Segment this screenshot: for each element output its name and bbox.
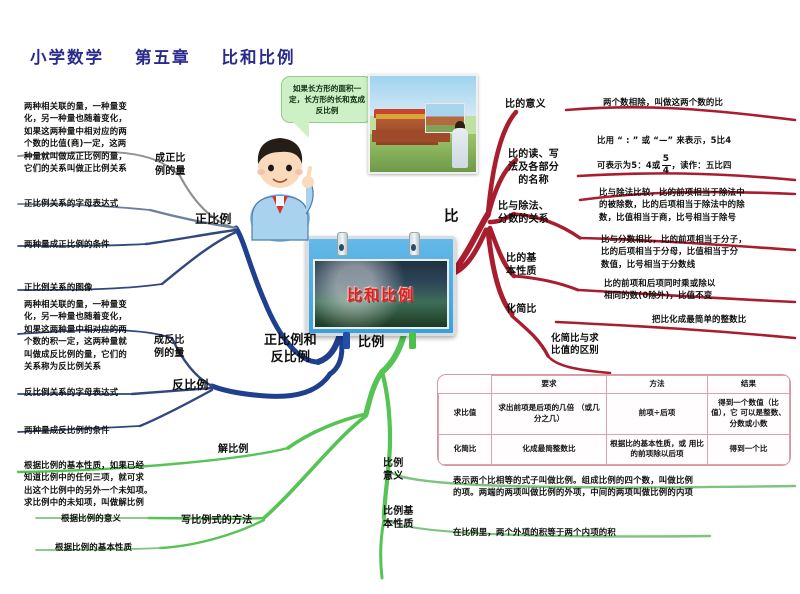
table-header-jieguo: 结果: [708, 376, 790, 394]
leaf-bi-duxiefa-line2: 可表示为5：4或 5 4 ，读作：五比四: [597, 155, 800, 176]
leaf-bi-duxiefa-line2b: ，读作：五比四: [672, 159, 732, 171]
node-bi-qubie[interactable]: 化简比与求 比值的区别: [551, 333, 599, 357]
table-row: 化简比 化成最简整数比 根据比的基本性质，或 用比的前项除以后项 得到一个比: [439, 434, 790, 464]
table-row-label-qiubizhi: 求比值: [439, 393, 492, 434]
table-cell-huajianbi-fangfa: 根据比的基本性质，或 用比的前项除以后项: [607, 434, 708, 464]
leaf-bi-yiyi: 两个数相除，叫做这两个数的比: [603, 96, 793, 108]
speech-bubble: 如果长方形的面积一定，长方形的长和宽成反比例: [281, 76, 373, 123]
leaf-xie-bilishi-yiyi: 根据比例的意义: [61, 512, 211, 524]
node-bi-huajianbi[interactable]: 化简比: [506, 303, 537, 316]
wire-bi-trunk2: [452, 230, 486, 274]
board-leg-left: [343, 332, 350, 349]
node-bi-chufa-fenshu[interactable]: 比与除法、 分数的关系: [498, 200, 549, 226]
table-corner: [439, 376, 492, 394]
leaf-xie-bilishi-xingzhi: 根据比例的基本性质: [55, 541, 215, 553]
mindmap-canvas: 小学数学 第五章 比和比例 比和比例 如果长方形的面积一定，长方形的长和宽成反比…: [0, 0, 800, 594]
node-zhengfanbili[interactable]: 正比例和 反比例: [264, 333, 317, 367]
table-header-fangfa: 方法: [607, 376, 708, 394]
leaf-bili-xingzhi: 在比例里，两个外项的积等于两个内项的积: [453, 526, 783, 538]
leaf-zhengbili-tuxiang: 正比例关系的图像: [24, 281, 204, 293]
page-title: 小学数学 第五章 比和比例: [30, 44, 295, 68]
board-leg-right: [409, 332, 416, 349]
wire-bili-1: [288, 414, 366, 448]
table-row: 求比值 求出前项是后项的几倍 （或几分之几） 前项÷后项 得到一个数值（比值），…: [439, 393, 790, 434]
leaf-bi-huajianbi: 把比化成最简单的整数比: [652, 313, 800, 325]
wire-zf-trunk: [318, 334, 340, 362]
wire-bili-hub: [366, 372, 382, 414]
table-header-yaoqiu: 要求: [492, 376, 607, 394]
node-bi-duxiefa[interactable]: 比的读、写 法及各部分 的名称: [508, 148, 559, 188]
leaf-cheng-zhengbili-liang: 两种相关联的量，一种量变 化，另一种量也随着变化， 如果这两种量中相对应的两 个…: [24, 100, 174, 175]
wire-bi-1b: [566, 107, 795, 120]
node-bili-yiyi[interactable]: 比例 意义: [383, 457, 403, 483]
wire-bili-2: [264, 416, 366, 518]
table-cell-qiubizhi-yaoqiu: 求出前项是后项的几倍 （或几分之几）: [492, 393, 607, 434]
fraction-numerator: 5: [663, 155, 669, 164]
photo-person-body: [452, 128, 468, 168]
table-cell-huajianbi-yaoqiu: 化成最简整数比: [492, 434, 607, 464]
node-bi-xingzhi[interactable]: 比的基 本性质: [506, 252, 537, 278]
table-row-label-huajianbi: 化简比: [439, 434, 492, 464]
clip-left-icon: [337, 232, 348, 256]
central-topic-node[interactable]: 比和比例: [306, 236, 456, 336]
wire-bi-6: [512, 316, 548, 356]
tiananmen-photo: [368, 74, 478, 174]
node-bili-xingzhi[interactable]: 比例基 本性质: [383, 505, 414, 531]
cartoon-boy-illustration: [236, 122, 324, 242]
leaf-jiebili: 根据比例的基本性质，如果已经 知道比例中的任何三项，就可求 出这个比例中的另外一…: [24, 459, 200, 509]
node-bi-yiyi[interactable]: 比的意义: [505, 98, 546, 111]
leaf-zhengbili-zimu: 正比例关系的字母表达式: [24, 197, 204, 209]
table-header-row: 要求 方法 结果: [439, 376, 790, 394]
wire-bili-trunk: [382, 334, 404, 372]
leaf-cheng-fanbili-liang: 两种相关联的量，一种量变 化，另一种量也随着变化， 如果这两种量中相对应的两 个…: [24, 298, 176, 373]
leaf-bi-fenshu: 比与分数相比，比的前项相当于分子， 比的后项相当于分母，比值相当于分 数值，比号…: [601, 233, 797, 270]
leaf-fanbili-zimu: 反比例关系的字母表达式: [24, 386, 204, 398]
leaf-fanbili-tiaojian: 两种量成反比例的条件: [24, 424, 204, 436]
wire-bili-3: [382, 372, 390, 470]
leaf-zhengbili-tiaojian: 两种量成正比例的条件: [24, 238, 204, 250]
table-cell-huajianbi-jieguo: 得到一个比: [708, 434, 790, 464]
node-zhengbili[interactable]: 正比例: [195, 212, 232, 228]
central-topic-label: 比和比例: [347, 284, 415, 305]
compare-table: 要求 方法 结果 求比值 求出前项是后项的几倍 （或几分之几） 前项÷后项 得到…: [437, 374, 791, 466]
wire-fan: [212, 374, 330, 396]
leaf-bi-xingzhi: 比的前项和后项同时乘或除以 相同的数(0除外)，比值不变: [604, 277, 798, 302]
fraction-denominator: 4: [663, 167, 669, 176]
fraction-five-fourths: 5 4: [662, 155, 671, 176]
node-bi[interactable]: 比: [444, 208, 459, 226]
leaf-bi-chufa: 比与除法比较，比的前项相当于除法中 的被除数，比的后项相当于除法中的除 数，比值…: [599, 186, 799, 223]
node-bili[interactable]: 比例: [358, 335, 384, 352]
clip-right-icon: [409, 232, 420, 256]
wire-bi-6b: [548, 356, 610, 373]
leaf-bi-duxiefa-line2a: 可表示为5：4或: [597, 159, 661, 171]
leaf-bili-yiyi: 表示两个比相等的式子叫做比例。组成比例的四个数，叫做比例 的项。两端的两项叫做比…: [453, 474, 793, 499]
leaf-bi-duxiefa-line1: 比用 “ : ” 或 “—” 来表示，5比4: [597, 134, 797, 146]
node-jiebili[interactable]: 解比例: [218, 443, 249, 456]
wire-zf-down: [330, 334, 342, 374]
table-cell-qiubizhi-fangfa: 前项÷后项: [607, 393, 708, 434]
table-cell-qiubizhi-jieguo: 得到一个数值（比值），它 可以是整数、分数或小数: [708, 393, 790, 434]
central-board: 比和比例: [313, 259, 449, 329]
